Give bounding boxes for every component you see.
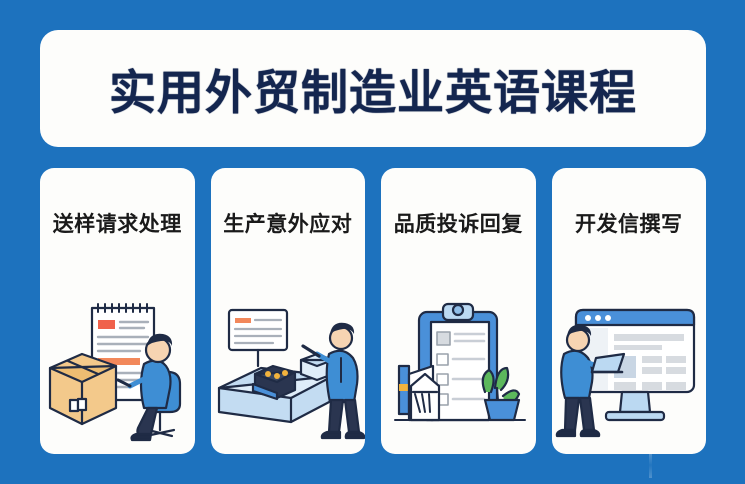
feature-card-3[interactable]: 品质投诉回复 [381, 168, 536, 454]
feature-card-4[interactable]: 开发信撰写 [552, 168, 707, 454]
page-title: 实用外贸制造业英语课程 [109, 54, 637, 123]
header-banner: 实用外贸制造业英语课程 [40, 30, 706, 147]
feature-card-1[interactable]: 送样请求处理 [40, 168, 195, 454]
feature-card-1-title: 送样请求处理 [53, 208, 182, 238]
watermark-artifact [649, 452, 652, 478]
illustration-quality-complaint [381, 296, 536, 446]
feature-card-4-title: 开发信撰写 [575, 208, 683, 238]
illustration-development-letter [552, 296, 707, 446]
feature-card-row: 送样请求处理 [40, 168, 706, 454]
illustration-sample-request [40, 296, 195, 446]
feature-card-2[interactable]: 生产意外应对 [211, 168, 366, 454]
feature-card-3-title: 品质投诉回复 [394, 208, 523, 238]
illustration-production-incident [211, 296, 366, 446]
poster-canvas: 实用外贸制造业英语课程 送样请求处理 [0, 0, 745, 484]
feature-card-2-title: 生产意外应对 [223, 208, 352, 238]
